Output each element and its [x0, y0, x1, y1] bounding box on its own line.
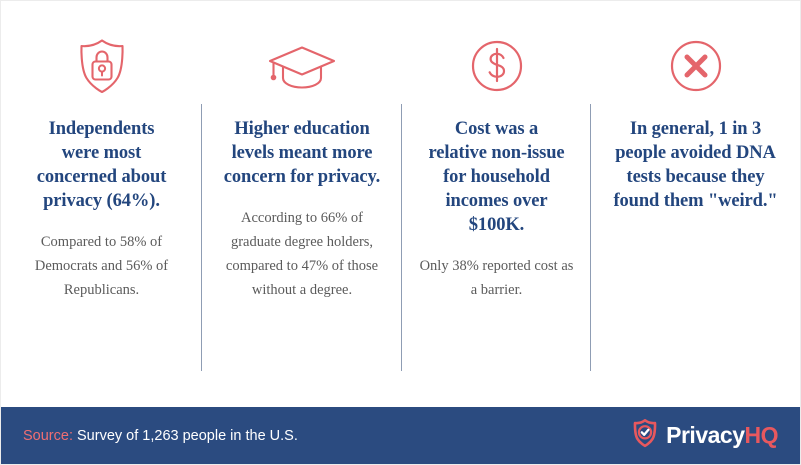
- source-label: Source:: [23, 428, 73, 444]
- graduation-cap-icon: [264, 35, 340, 97]
- privacyhq-logo[interactable]: PrivacyHQ: [630, 418, 778, 453]
- stat-column-education: Higher education levels meant more conce…: [202, 1, 402, 407]
- shield-lock-icon: [71, 35, 133, 97]
- shield-check-icon: [630, 418, 660, 453]
- stat-subtext: Compared to 58% of Democrats and 56% of …: [26, 230, 178, 302]
- stat-headline: Cost was a relative non-issue for househ…: [426, 117, 568, 237]
- stat-subtext: Only 38% reported cost as a barrier.: [419, 254, 575, 302]
- logo-name-secondary: HQ: [745, 422, 779, 448]
- stat-headline: Higher education levels meant more conce…: [221, 117, 383, 189]
- source-line: Source: Survey of 1,263 people in the U.…: [23, 428, 298, 444]
- stat-column-cost: Cost was a relative non-issue for househ…: [402, 1, 591, 407]
- footer-bar: Source: Survey of 1,263 people in the U.…: [1, 407, 800, 464]
- stat-column-independents: Independents were most concerned about p…: [1, 1, 202, 407]
- stat-headline: Independents were most concerned about p…: [32, 117, 172, 213]
- stat-headline: In general, 1 in 3 people avoided DNA te…: [612, 117, 780, 213]
- stat-subtext: According to 66% of graduate degree hold…: [220, 206, 384, 302]
- dollar-circle-icon: [466, 35, 528, 97]
- source-text: Survey of 1,263 people in the U.S.: [77, 428, 298, 444]
- stat-column-dna-tests: In general, 1 in 3 people avoided DNA te…: [591, 1, 800, 407]
- infographic-page: Independents were most concerned about p…: [0, 0, 801, 465]
- logo-name-primary: Privacy: [666, 422, 744, 448]
- stats-columns: Independents were most concerned about p…: [1, 1, 800, 407]
- x-circle-icon: [665, 35, 727, 97]
